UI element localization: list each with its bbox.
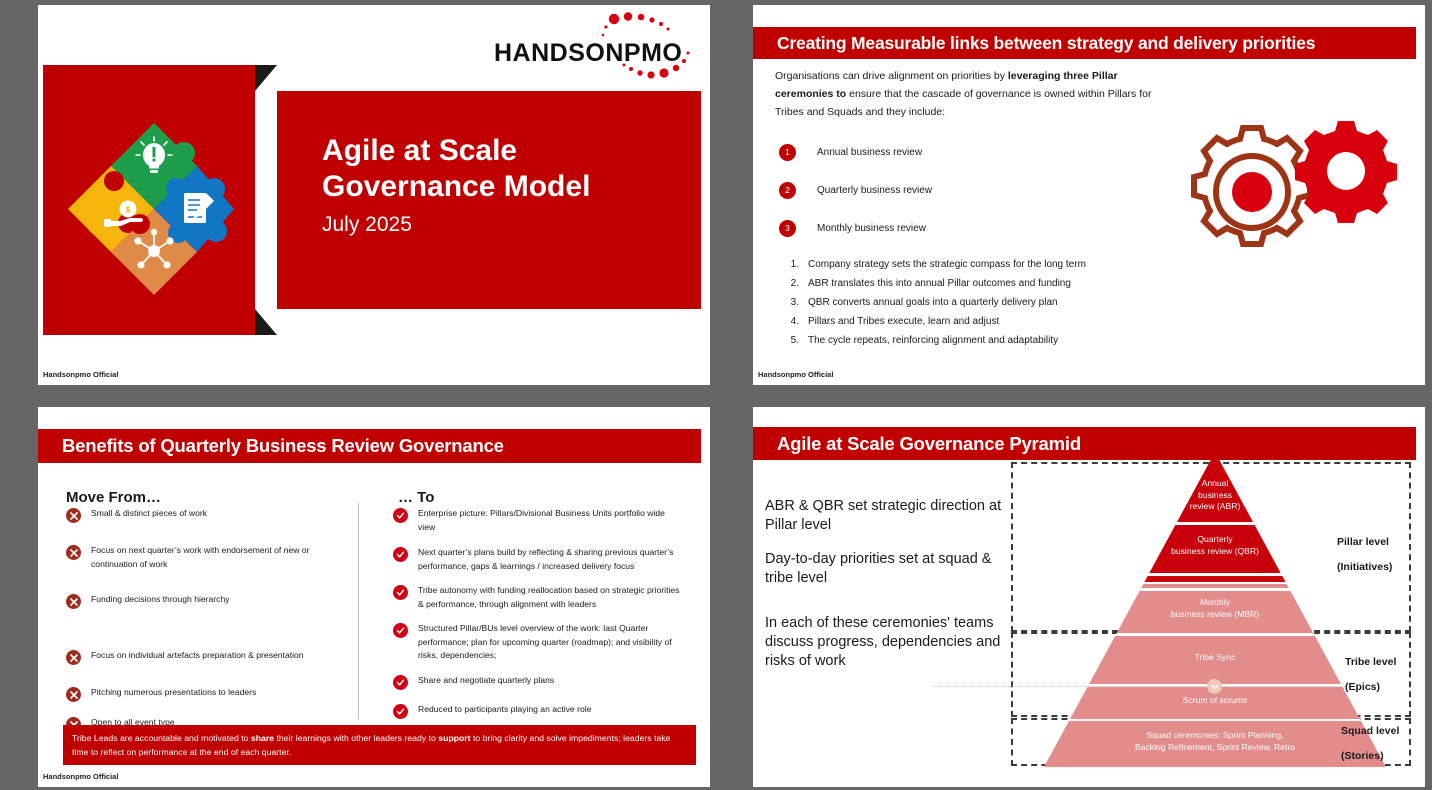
callout-text-1: Tribe Leads are accountable and motivate…: [72, 733, 251, 743]
from-item-text-4: Focus on individual artefacts preparatio…: [91, 649, 304, 665]
cover-title-line2: Governance Model: [322, 169, 701, 205]
list-item: Structured Pillar/BUs level overview of …: [393, 622, 683, 663]
list-item: Next quarter’s plans build by reflecting…: [393, 546, 683, 573]
callout-bold-support: support: [438, 733, 470, 743]
gears-icon: [1171, 113, 1401, 268]
column-divider: [358, 503, 359, 719]
to-item-text-3: Tribe autonomy with funding reallocation…: [418, 584, 683, 611]
check-icon: [393, 585, 408, 600]
to-item-text-6: Reduced to participants playing an activ…: [418, 703, 591, 719]
step-number-1: 1.: [777, 255, 799, 274]
cross-icon: [66, 594, 81, 609]
band-pillar-name: Pillar level: [1337, 536, 1392, 548]
ceremony-item[interactable]: 3 Monthly business review: [779, 209, 1199, 247]
callout-text-2: their learnings with other leaders ready…: [274, 733, 438, 743]
tribe-leads-callout: Tribe Leads are accountable and motivate…: [63, 725, 696, 765]
band-squad-name: Squad level: [1341, 725, 1399, 737]
check-icon: [393, 508, 408, 523]
to-item-text-5: Share and negotiate quarterly plans: [418, 674, 554, 690]
column-header-from: Move From…: [66, 489, 161, 506]
slide2-title: Creating Measurable links between strate…: [753, 27, 1416, 59]
cascade-steps-list: 1. Company strategy sets the strategic c…: [777, 255, 1207, 350]
cover-title-banner: Agile at Scale Governance Model July 202…: [277, 91, 701, 309]
list-item: 1. Company strategy sets the strategic c…: [777, 255, 1207, 274]
list-item: 3. QBR converts annual goals into a quar…: [777, 293, 1207, 312]
cross-icon: [66, 508, 81, 523]
step-number-3: 3.: [777, 293, 799, 312]
list-item: Reduced to participants playing an activ…: [393, 703, 683, 719]
slide-footer: Handsonpmo Official: [43, 772, 118, 781]
to-item-text-1: Enterprise picture: Pillars/Divisional B…: [418, 507, 683, 534]
slide-governance-pyramid[interactable]: Agile at Scale Governance Pyramid ABR & …: [753, 407, 1425, 787]
step-text-5: The cycle repeats, reinforcing alignment…: [808, 331, 1058, 350]
intro-text-1: Organisations can drive alignment on pri…: [775, 70, 1008, 82]
step-text-3: QBR converts annual goals into a quarter…: [808, 293, 1058, 312]
pyramid-lead-text: ABR & QBR set strategic direction at Pil…: [765, 497, 1020, 686]
step-text-1: Company strategy sets the strategic comp…: [808, 255, 1086, 274]
cover-title-line1: Agile at Scale: [322, 91, 701, 169]
slide2-intro: Organisations can drive alignment on pri…: [775, 67, 1175, 121]
step-number-4: 4.: [777, 312, 799, 331]
move-from-list: Small & distinct pieces of work Focus on…: [66, 507, 344, 732]
band-pillar-sub: (Initiatives): [1337, 561, 1392, 573]
slide-measurable-links[interactable]: Creating Measurable links between strate…: [753, 5, 1425, 385]
tribe-divider-dotted: [933, 686, 1353, 688]
list-item: Share and negotiate quarterly plans: [393, 674, 683, 690]
from-item-text-1: Small & distinct pieces of work: [91, 507, 207, 523]
list-item: Tribe autonomy with funding reallocation…: [393, 584, 683, 611]
band-label-tribe: Tribe level (Epics): [1345, 656, 1396, 693]
chevron-down-icon: [1207, 679, 1222, 694]
band-squad-sub: (Stories): [1341, 750, 1399, 762]
band-label-pillar: Pillar level (Initiatives): [1337, 536, 1392, 573]
list-item: Funding decisions through hierarchy: [66, 593, 344, 609]
ribbon-fold-top: [255, 65, 277, 91]
check-icon: [393, 675, 408, 690]
list-item: 2. ABR translates this into annual Pilla…: [777, 274, 1207, 293]
ceremony-label-3: Monthly business review: [817, 223, 926, 234]
to-item-text-4: Structured Pillar/BUs level overview of …: [418, 622, 683, 663]
list-item: Enterprise picture: Pillars/Divisional B…: [393, 507, 683, 534]
pyramid-shape: [1011, 452, 1419, 772]
handsonpmo-logo: HANDSONPMO: [494, 11, 704, 89]
list-item: Pitching numerous presentations to leade…: [66, 686, 344, 702]
layer-mbr: [1011, 591, 1419, 633]
gear-large-center: [1232, 172, 1272, 212]
slide-cover[interactable]: HANDSONPMO: [38, 5, 710, 385]
list-item: Small & distinct pieces of work: [66, 507, 344, 523]
from-item-text-5: Pitching numerous presentations to leade…: [91, 686, 256, 702]
layer-abr: [1011, 452, 1419, 522]
step-number-5: 5.: [777, 331, 799, 350]
cover-subtitle: July 2025: [322, 213, 701, 237]
puzzle-graphic: $: [66, 111, 236, 301]
slide-footer: Handsonpmo Official: [43, 370, 118, 379]
step-text-4: Pillars and Tribes execute, learn and ad…: [808, 312, 999, 331]
list-item: 5. The cycle repeats, reinforcing alignm…: [777, 331, 1207, 350]
check-icon: [393, 704, 408, 719]
band-tribe-name: Tribe level: [1345, 656, 1396, 668]
ceremony-badge-1: 1: [779, 144, 796, 161]
lead-paragraph-3: In each of these ceremonies' teams discu…: [765, 614, 1020, 671]
step-text-2: ABR translates this into annual Pillar o…: [808, 274, 1071, 293]
ceremony-item[interactable]: 1 Annual business review: [779, 133, 1199, 171]
lead-paragraph-2: Day-to-day priorities set at squad & tri…: [765, 550, 1020, 588]
move-to-list: Enterprise picture: Pillars/Divisional B…: [393, 507, 683, 719]
step-number-2: 2.: [777, 274, 799, 293]
from-item-text-3: Funding decisions through hierarchy: [91, 593, 230, 609]
list-item: Focus on individual artefacts preparatio…: [66, 649, 344, 665]
ceremony-badge-3: 3: [779, 220, 796, 237]
lead-paragraph-1: ABR & QBR set strategic direction at Pil…: [765, 497, 1020, 535]
svg-text:$: $: [126, 206, 131, 215]
ceremony-item[interactable]: 2 Quarterly business review: [779, 171, 1199, 209]
to-item-text-2: Next quarter’s plans build by reflecting…: [418, 546, 683, 573]
ceremony-list: 1 Annual business review 2 Quarterly bus…: [779, 133, 1199, 247]
check-icon: [393, 547, 408, 562]
band-tribe-sub: (Epics): [1345, 681, 1396, 693]
callout-bold-share: share: [251, 733, 274, 743]
list-item: Focus on next quarter’s work with endors…: [66, 544, 344, 571]
cross-icon: [66, 650, 81, 665]
slide-footer: Handsonpmo Official: [758, 370, 833, 379]
ceremony-label-2: Quarterly business review: [817, 185, 932, 196]
band-label-squad: Squad level (Stories): [1341, 725, 1399, 762]
gear-small-hole: [1327, 152, 1365, 190]
slide-deck: HANDSONPMO: [0, 0, 1432, 790]
from-item-text-2: Focus on next quarter’s work with endors…: [91, 544, 344, 571]
ceremony-badge-2: 2: [779, 182, 796, 199]
logo-wordmark: HANDSONPMO: [494, 39, 682, 68]
ceremony-label-1: Annual business review: [817, 147, 922, 158]
ribbon-fold-bottom: [255, 309, 277, 335]
column-header-to: … To: [398, 489, 434, 506]
cross-icon: [66, 687, 81, 702]
slide-qbr-benefits[interactable]: Benefits of Quarterly Business Review Go…: [38, 407, 710, 787]
check-icon: [393, 623, 408, 638]
list-item: 4. Pillars and Tribes execute, learn and…: [777, 312, 1207, 331]
pyramid-diagram: Annual business review (ABR) Quarterly b…: [1011, 452, 1419, 772]
slide3-title: Benefits of Quarterly Business Review Go…: [38, 429, 701, 463]
cross-icon: [66, 545, 81, 560]
